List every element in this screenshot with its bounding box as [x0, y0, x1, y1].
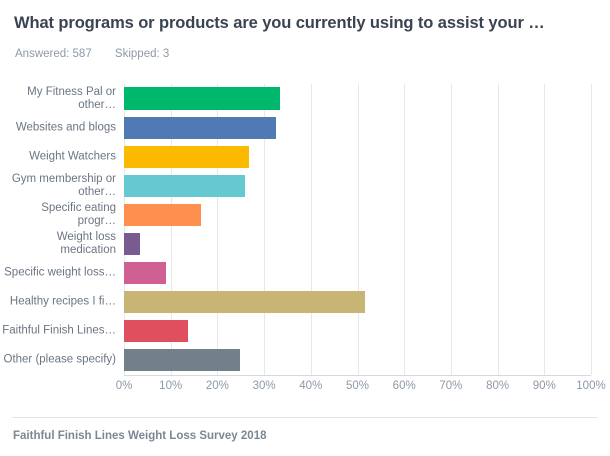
x-tick-label: 90% [533, 380, 556, 392]
bar[interactable] [124, 204, 201, 226]
x-tick-label: 70% [439, 380, 462, 392]
category-label: Weight loss medication [0, 231, 116, 257]
bar[interactable] [124, 349, 240, 371]
category-label: Other (please specify) [0, 354, 116, 367]
category-label: Weight Watchers [0, 150, 116, 163]
x-tick-label: 80% [486, 380, 509, 392]
bar[interactable] [124, 117, 276, 139]
category-label: Faithful Finish Lines… [0, 325, 116, 338]
x-tick-label: 60% [393, 380, 416, 392]
chart-row: Specific weight loss… [0, 259, 610, 288]
x-tick-label: 0% [116, 380, 133, 392]
chart-row: Weight Watchers [0, 142, 610, 171]
chart-row: Websites and blogs [0, 113, 610, 142]
category-label: Specific eating progr… [0, 202, 116, 228]
chart-row: Weight loss medication [0, 230, 610, 259]
chart-row: My Fitness Pal or other… [0, 84, 610, 113]
bar[interactable] [124, 320, 188, 342]
category-label: My Fitness Pal or other… [0, 86, 116, 112]
bar[interactable] [124, 87, 280, 109]
x-tick-label: 20% [206, 380, 229, 392]
chart-row: Specific eating progr… [0, 200, 610, 229]
chart-page: What programs or products are you curren… [0, 0, 610, 456]
category-label: Healthy recipes I fi… [0, 296, 116, 309]
x-axis-tick-labels: 0%10%20%30%40%50%60%70%80%90%100% [0, 380, 610, 400]
category-label: Gym membership or other… [0, 173, 116, 199]
x-tick-label: 100% [576, 380, 605, 392]
skipped-count: Skipped: 3 [115, 48, 169, 60]
chart-row: Healthy recipes I fi… [0, 288, 610, 317]
bar[interactable] [124, 262, 166, 284]
chart-row: Faithful Finish Lines… [0, 317, 610, 346]
footer-source-label: Faithful Finish Lines Weight Loss Survey… [13, 430, 266, 442]
bar[interactable] [124, 291, 365, 313]
category-label: Specific weight loss… [0, 267, 116, 280]
x-tick-label: 10% [159, 380, 182, 392]
page-title: What programs or products are you curren… [14, 14, 596, 33]
bar[interactable] [124, 233, 140, 255]
chart-plot: 0%10%20%30%40%50%60%70%80%90%100% My Fit… [0, 72, 610, 402]
response-summary: Answered: 587 Skipped: 3 [15, 48, 169, 60]
x-tick-label: 40% [299, 380, 322, 392]
chart-row: Gym membership or other… [0, 171, 610, 200]
x-tick-label: 50% [346, 380, 369, 392]
x-axis-line [124, 375, 591, 376]
footer-divider [12, 417, 598, 418]
bar[interactable] [124, 146, 249, 168]
category-label: Websites and blogs [0, 121, 116, 134]
chart-row: Other (please specify) [0, 346, 610, 375]
bar[interactable] [124, 175, 245, 197]
answered-count: Answered: 587 [15, 48, 92, 60]
x-tick-label: 30% [253, 380, 276, 392]
